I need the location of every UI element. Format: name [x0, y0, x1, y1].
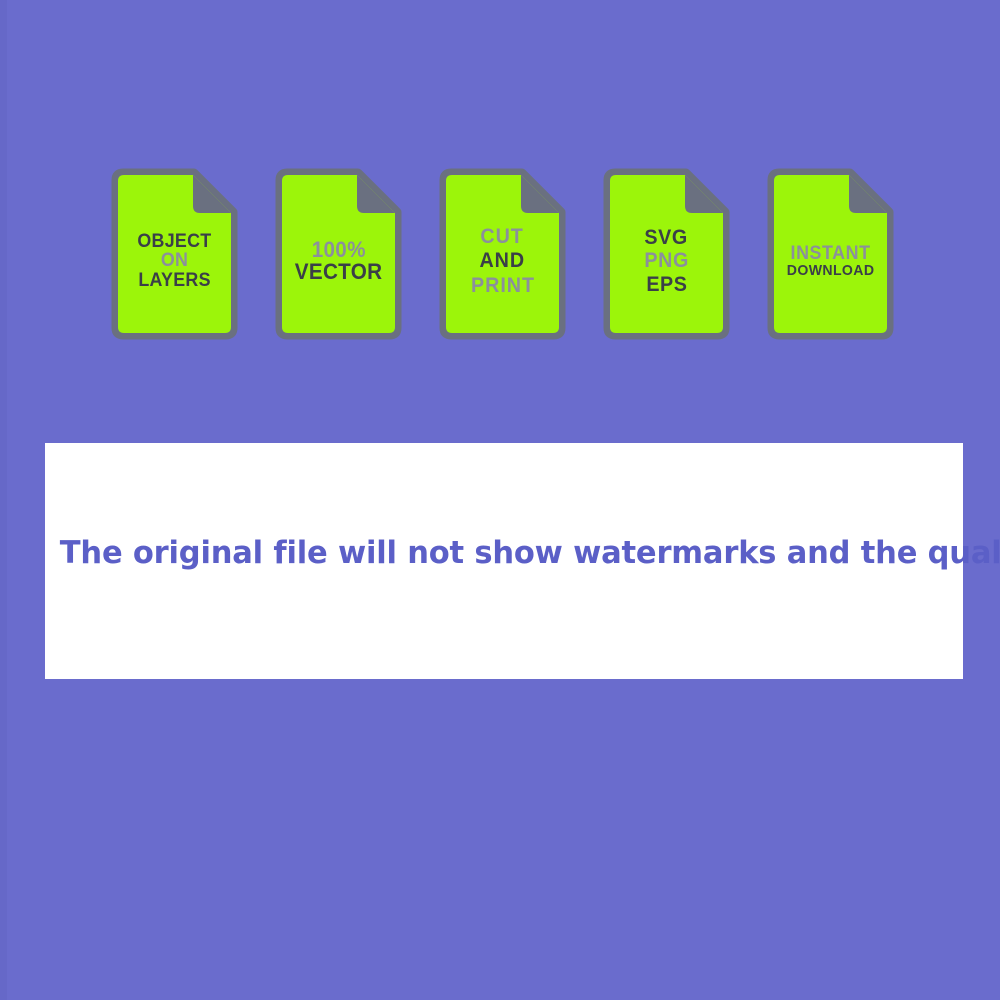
badge-file-formats: SVGPNGEPS: [602, 168, 731, 340]
document-folded-corner-icon: [110, 168, 239, 340]
feature-badge-row: OBJECTONLAYERS100%VECTORCUTANDPRINTSVGPN…: [110, 168, 895, 340]
left-edge-strip: [0, 0, 7, 1000]
document-folded-corner-icon: [602, 168, 731, 340]
watermark-message: The original file will not show watermar…: [60, 535, 948, 571]
document-folded-corner-icon: [438, 168, 567, 340]
watermark-panel: The original file will not show watermar…: [45, 443, 963, 679]
document-folded-corner-icon: [274, 168, 403, 340]
badge-instant-download: INSTANTDOWNLOAD: [766, 168, 895, 340]
badge-100-percent-vector: 100%VECTOR: [274, 168, 403, 340]
badge-object-on-layers: OBJECTONLAYERS: [110, 168, 239, 340]
document-folded-corner-icon: [766, 168, 895, 340]
badge-cut-and-print: CUTANDPRINT: [438, 168, 567, 340]
